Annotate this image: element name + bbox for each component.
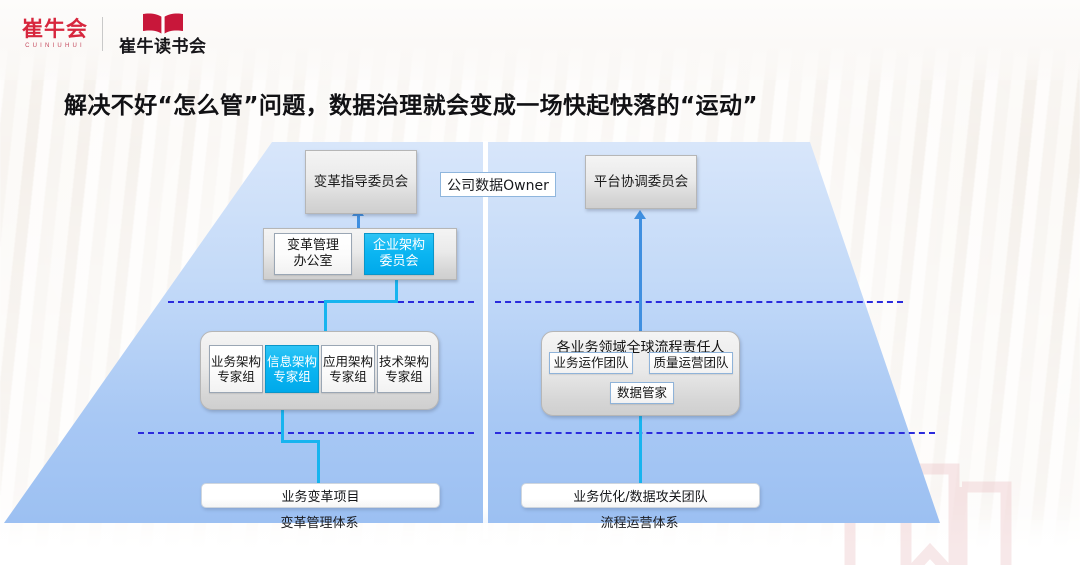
chip-business-architecture-group-line1: 业务架构 <box>211 354 261 369</box>
bar-business-change-project[interactable]: 业务变革项目 <box>201 483 440 508</box>
box-change-steering-committee[interactable]: 变革指导委员会 <box>305 150 417 214</box>
tier-separator-1-right <box>495 301 903 303</box>
chip-information-architecture-group-line2: 专家组 <box>273 369 311 384</box>
arrow-globalowner-to-platform <box>634 210 646 219</box>
logo-reading-club: 崔牛读书会 <box>119 13 207 56</box>
chip-quality-operation-team[interactable]: 质量运营团队 <box>649 352 733 374</box>
chip-business-architecture-group-line2: 专家组 <box>217 369 255 384</box>
chip-business-operation-team[interactable]: 业务运作团队 <box>549 352 633 374</box>
bar-business-optimization-team[interactable]: 业务优化/数据攻关团队 <box>521 483 760 508</box>
chip-data-steward-label: 数据管家 <box>617 385 667 400</box>
box-platform-coordination-committee[interactable]: 平台协调委员会 <box>585 155 697 209</box>
connector-expert-up-v1 <box>324 300 327 332</box>
chip-information-architecture-group[interactable]: 信息架构 专家组 <box>265 345 319 393</box>
connector-optteam-up <box>639 415 642 484</box>
box-change-steering-committee-label: 变革指导委员会 <box>314 174 409 191</box>
tier-separator-2-left <box>138 432 474 434</box>
page-title: 解决不好“怎么管”问题，数据治理就会变成一场快起快落的“运动” <box>64 86 1024 120</box>
chip-technical-architecture-group[interactable]: 技术架构 专家组 <box>377 345 431 393</box>
connector-expert-up-h <box>324 300 398 303</box>
chip-information-architecture-group-line1: 信息架构 <box>267 354 317 369</box>
chip-technical-architecture-group-line1: 技术架构 <box>379 354 429 369</box>
chip-quality-operation-team-label: 质量运营团队 <box>653 355 728 370</box>
chip-change-management-office-line2: 办公室 <box>293 254 332 270</box>
logo-cuiniuhui: 崔牛会 CUINIUHUI <box>22 19 88 49</box>
bar-business-change-project-label: 业务变革项目 <box>281 486 359 505</box>
chip-application-architecture-group[interactable]: 应用架构 专家组 <box>321 345 375 393</box>
chip-business-operation-team-label: 业务运作团队 <box>553 355 628 370</box>
box-company-data-owner-label: 公司数据Owner <box>447 175 549 195</box>
trapezoid-shape <box>0 140 1080 540</box>
chip-enterprise-architecture-committee[interactable]: 企业架构 委员会 <box>364 233 434 275</box>
chip-change-management-office-line1: 变革管理 <box>287 238 339 254</box>
tier-separator-1-left <box>168 301 474 303</box>
connector-project-up-h <box>281 440 320 443</box>
brand-logo-bar: 崔牛会 CUINIUHUI 崔牛读书会 <box>22 8 207 60</box>
connector-project-up-v1 <box>317 440 320 484</box>
logo-divider <box>102 17 103 51</box>
logo-reading-club-cn: 崔牛读书会 <box>119 39 207 56</box>
chip-business-architecture-group[interactable]: 业务架构 专家组 <box>209 345 263 393</box>
logo-cuiniuhui-cn: 崔牛会 <box>22 19 88 40</box>
box-platform-coordination-committee-label: 平台协调委员会 <box>594 174 689 191</box>
box-company-data-owner[interactable]: 公司数据Owner <box>440 172 556 197</box>
chip-data-steward[interactable]: 数据管家 <box>610 382 674 404</box>
bar-business-optimization-team-label: 业务优化/数据攻关团队 <box>573 486 707 505</box>
label-process-operation-system: 流程运营体系 <box>521 512 758 531</box>
slide-canvas: 崔牛会 CUINIUHUI 崔牛读书会 解决不好“怎么管”问题，数据治理就会变成… <box>0 0 1080 565</box>
chip-technical-architecture-group-line2: 专家组 <box>385 369 423 384</box>
center-divider <box>483 141 488 539</box>
tier-separator-2-right <box>495 432 935 434</box>
connector-globalowner-to-platform <box>639 218 642 331</box>
label-change-management-system: 变革管理体系 <box>201 512 438 531</box>
chip-change-management-office[interactable]: 变革管理 办公室 <box>274 233 352 275</box>
logo-cuiniuhui-pinyin: CUINIUHUI <box>25 43 85 49</box>
chip-enterprise-architecture-committee-line2: 委员会 <box>379 254 418 270</box>
chip-application-architecture-group-line2: 专家组 <box>329 369 367 384</box>
open-book-icon <box>140 13 186 35</box>
chip-application-architecture-group-line1: 应用架构 <box>323 354 373 369</box>
chip-enterprise-architecture-committee-line1: 企业架构 <box>373 238 425 254</box>
